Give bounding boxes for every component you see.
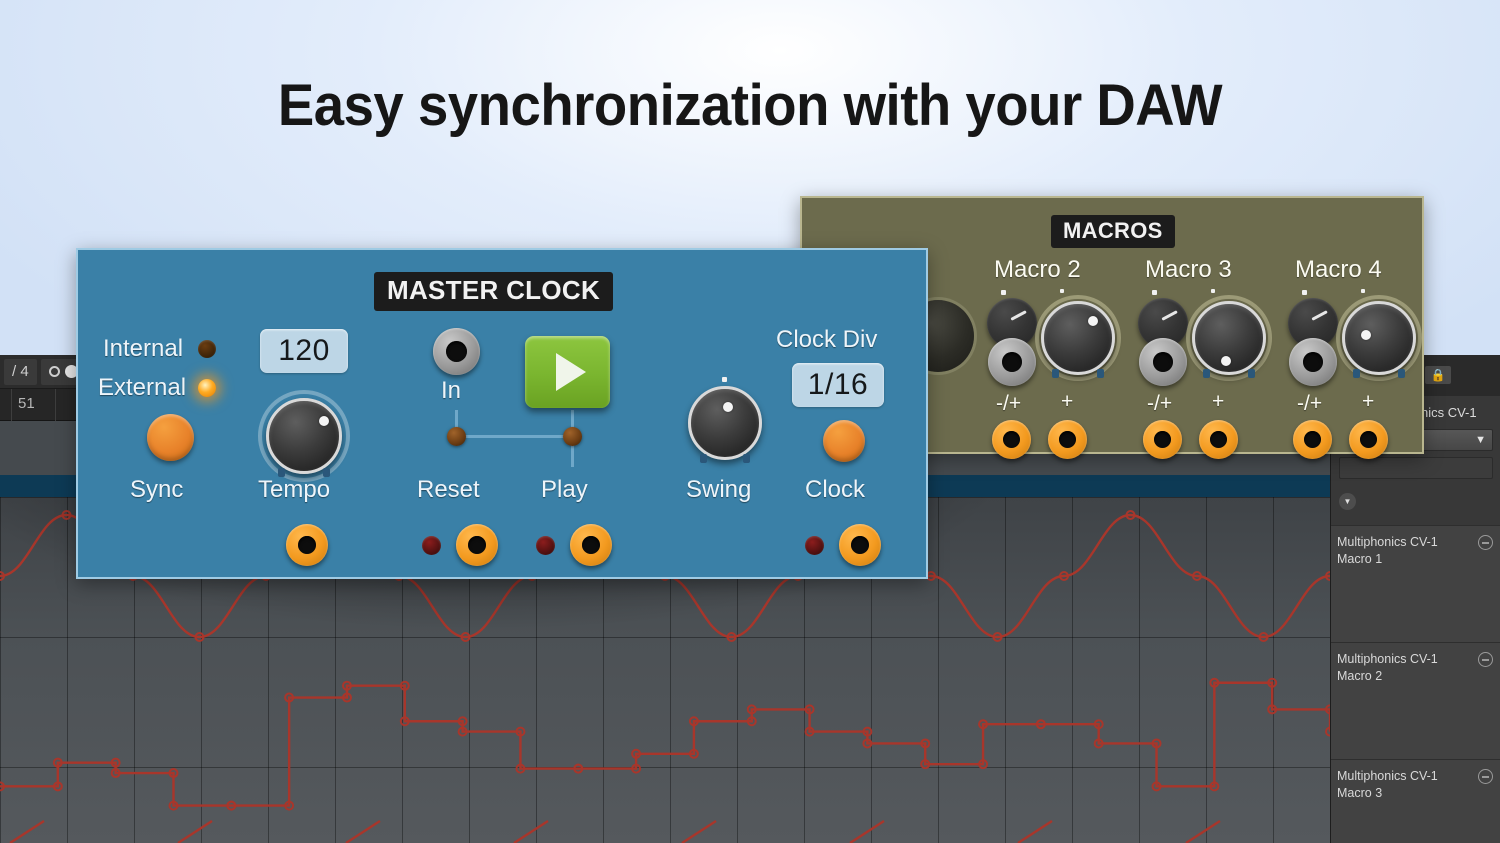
internal-label: Internal <box>103 335 183 363</box>
macro-output-jack[interactable] <box>1048 420 1087 459</box>
reset-label: Reset <box>417 476 480 504</box>
master-clock-badge: MASTER CLOCK <box>374 272 613 311</box>
clock-led <box>805 536 824 555</box>
macro-cv-input-jack[interactable] <box>988 338 1036 386</box>
swing-label: Swing <box>686 476 751 504</box>
clock-label: Clock <box>805 476 865 504</box>
macro-attenuated-output-jack[interactable] <box>1143 420 1182 459</box>
lane-device-name: Multiphonics CV-1 <box>1337 768 1500 785</box>
remove-lane-icon[interactable] <box>1478 769 1493 784</box>
macro-output-label: + <box>1362 390 1374 414</box>
macro-attenuator-label: -/+ <box>1147 392 1172 416</box>
sync-button[interactable] <box>147 414 194 461</box>
remove-lane-icon[interactable] <box>1478 652 1493 667</box>
in-label: In <box>441 377 461 405</box>
macro-title: Macro 4 <box>1295 256 1382 284</box>
attenuator-tick-icon <box>1302 290 1307 295</box>
clock-input-jack[interactable] <box>433 328 480 375</box>
play-label: Play <box>541 476 588 504</box>
knob-tick-icon <box>1211 289 1215 293</box>
macro-cv-input-jack[interactable] <box>1289 338 1337 386</box>
macro-attenuator-label: -/+ <box>996 392 1021 416</box>
swing-knob[interactable] <box>688 386 762 460</box>
macro-output-label: + <box>1061 390 1073 414</box>
knob-tick-icon <box>1361 289 1365 293</box>
cable-node-play[interactable] <box>563 427 582 446</box>
macros-panel-badge: MACROS <box>1051 215 1175 248</box>
master-clock-panel: MASTER CLOCK Internal External Sync 120 … <box>76 248 928 579</box>
lane-device-name: Multiphonics CV-1 <box>1337 534 1500 551</box>
time-signature-value: / 4 <box>12 363 29 380</box>
automation-curve-step <box>0 683 1330 806</box>
macro-output-jack[interactable] <box>1199 420 1238 459</box>
internal-led <box>198 340 216 358</box>
reset-led <box>422 536 441 555</box>
macro-title: Macro 3 <box>1145 256 1232 284</box>
clock-output-jack[interactable] <box>839 524 881 566</box>
lane-device-name: Multiphonics CV-1 <box>1337 651 1500 668</box>
macro-attenuated-output-jack[interactable] <box>992 420 1031 459</box>
macro-cv-input-jack[interactable] <box>1139 338 1187 386</box>
chevron-down-icon: ▼ <box>1339 493 1356 510</box>
clock-div-label: Clock Div <box>776 326 877 354</box>
external-led <box>198 379 216 397</box>
page-title: Easy synchronization with your DAW <box>45 72 1455 139</box>
knob-tick-icon <box>1060 289 1064 293</box>
external-label: External <box>98 374 186 402</box>
time-signature-field[interactable]: / 4 <box>4 359 37 385</box>
macro-value-knob[interactable] <box>1041 301 1115 375</box>
tempo-output-jack[interactable] <box>286 524 328 566</box>
chevron-down-icon: ▼ <box>1475 434 1486 446</box>
sync-label: Sync <box>130 476 183 504</box>
clock-div-button[interactable] <box>823 420 865 462</box>
sidebar-lane-item[interactable]: Multiphonics CV-1 Macro 3 <box>1331 759 1500 843</box>
lane-param-name: Macro 1 <box>1337 551 1500 568</box>
cable-node-reset[interactable] <box>447 427 466 446</box>
attenuator-tick-icon <box>1152 290 1157 295</box>
macro-value-knob[interactable] <box>1342 301 1416 375</box>
sidebar-lane-item[interactable]: Multiphonics CV-1 Macro 2 <box>1331 642 1500 759</box>
metronome-circles-icon <box>49 366 60 377</box>
reset-output-jack[interactable] <box>456 524 498 566</box>
swing-tick-icon <box>722 377 727 382</box>
sidebar-lane-item[interactable]: Multiphonics CV-1 Macro 1 <box>1331 525 1500 642</box>
tempo-label: Tempo <box>258 476 330 504</box>
tempo-value-display[interactable]: 120 <box>260 329 348 373</box>
lock-button[interactable]: 🔒 <box>1425 366 1451 384</box>
macro-attenuated-output-jack[interactable] <box>1293 420 1332 459</box>
clock-div-value-display[interactable]: 1/16 <box>792 363 884 407</box>
play-triangle-icon <box>556 353 586 391</box>
macro-attenuator-label: -/+ <box>1297 392 1322 416</box>
macro-output-label: + <box>1212 390 1224 414</box>
ruler-bar-number: 51 <box>18 395 35 412</box>
macro-output-jack[interactable] <box>1349 420 1388 459</box>
tempo-knob[interactable] <box>266 398 342 474</box>
lane-param-name: Macro 2 <box>1337 668 1500 685</box>
macro-title: Macro 2 <box>994 256 1081 284</box>
macro-value-knob[interactable] <box>1192 301 1266 375</box>
attenuator-tick-icon <box>1001 290 1006 295</box>
patch-cable-segment <box>455 435 573 438</box>
automation-curve-ramp <box>10 821 1220 843</box>
play-led <box>536 536 555 555</box>
play-button[interactable] <box>525 336 610 408</box>
lock-icon: 🔒 <box>1431 368 1446 382</box>
sidebar-empty-slot[interactable] <box>1339 457 1493 479</box>
lane-param-name: Macro 3 <box>1337 785 1500 802</box>
play-output-jack[interactable] <box>570 524 612 566</box>
sidebar-expand-button[interactable]: ▼ <box>1331 479 1500 510</box>
remove-lane-icon[interactable] <box>1478 535 1493 550</box>
